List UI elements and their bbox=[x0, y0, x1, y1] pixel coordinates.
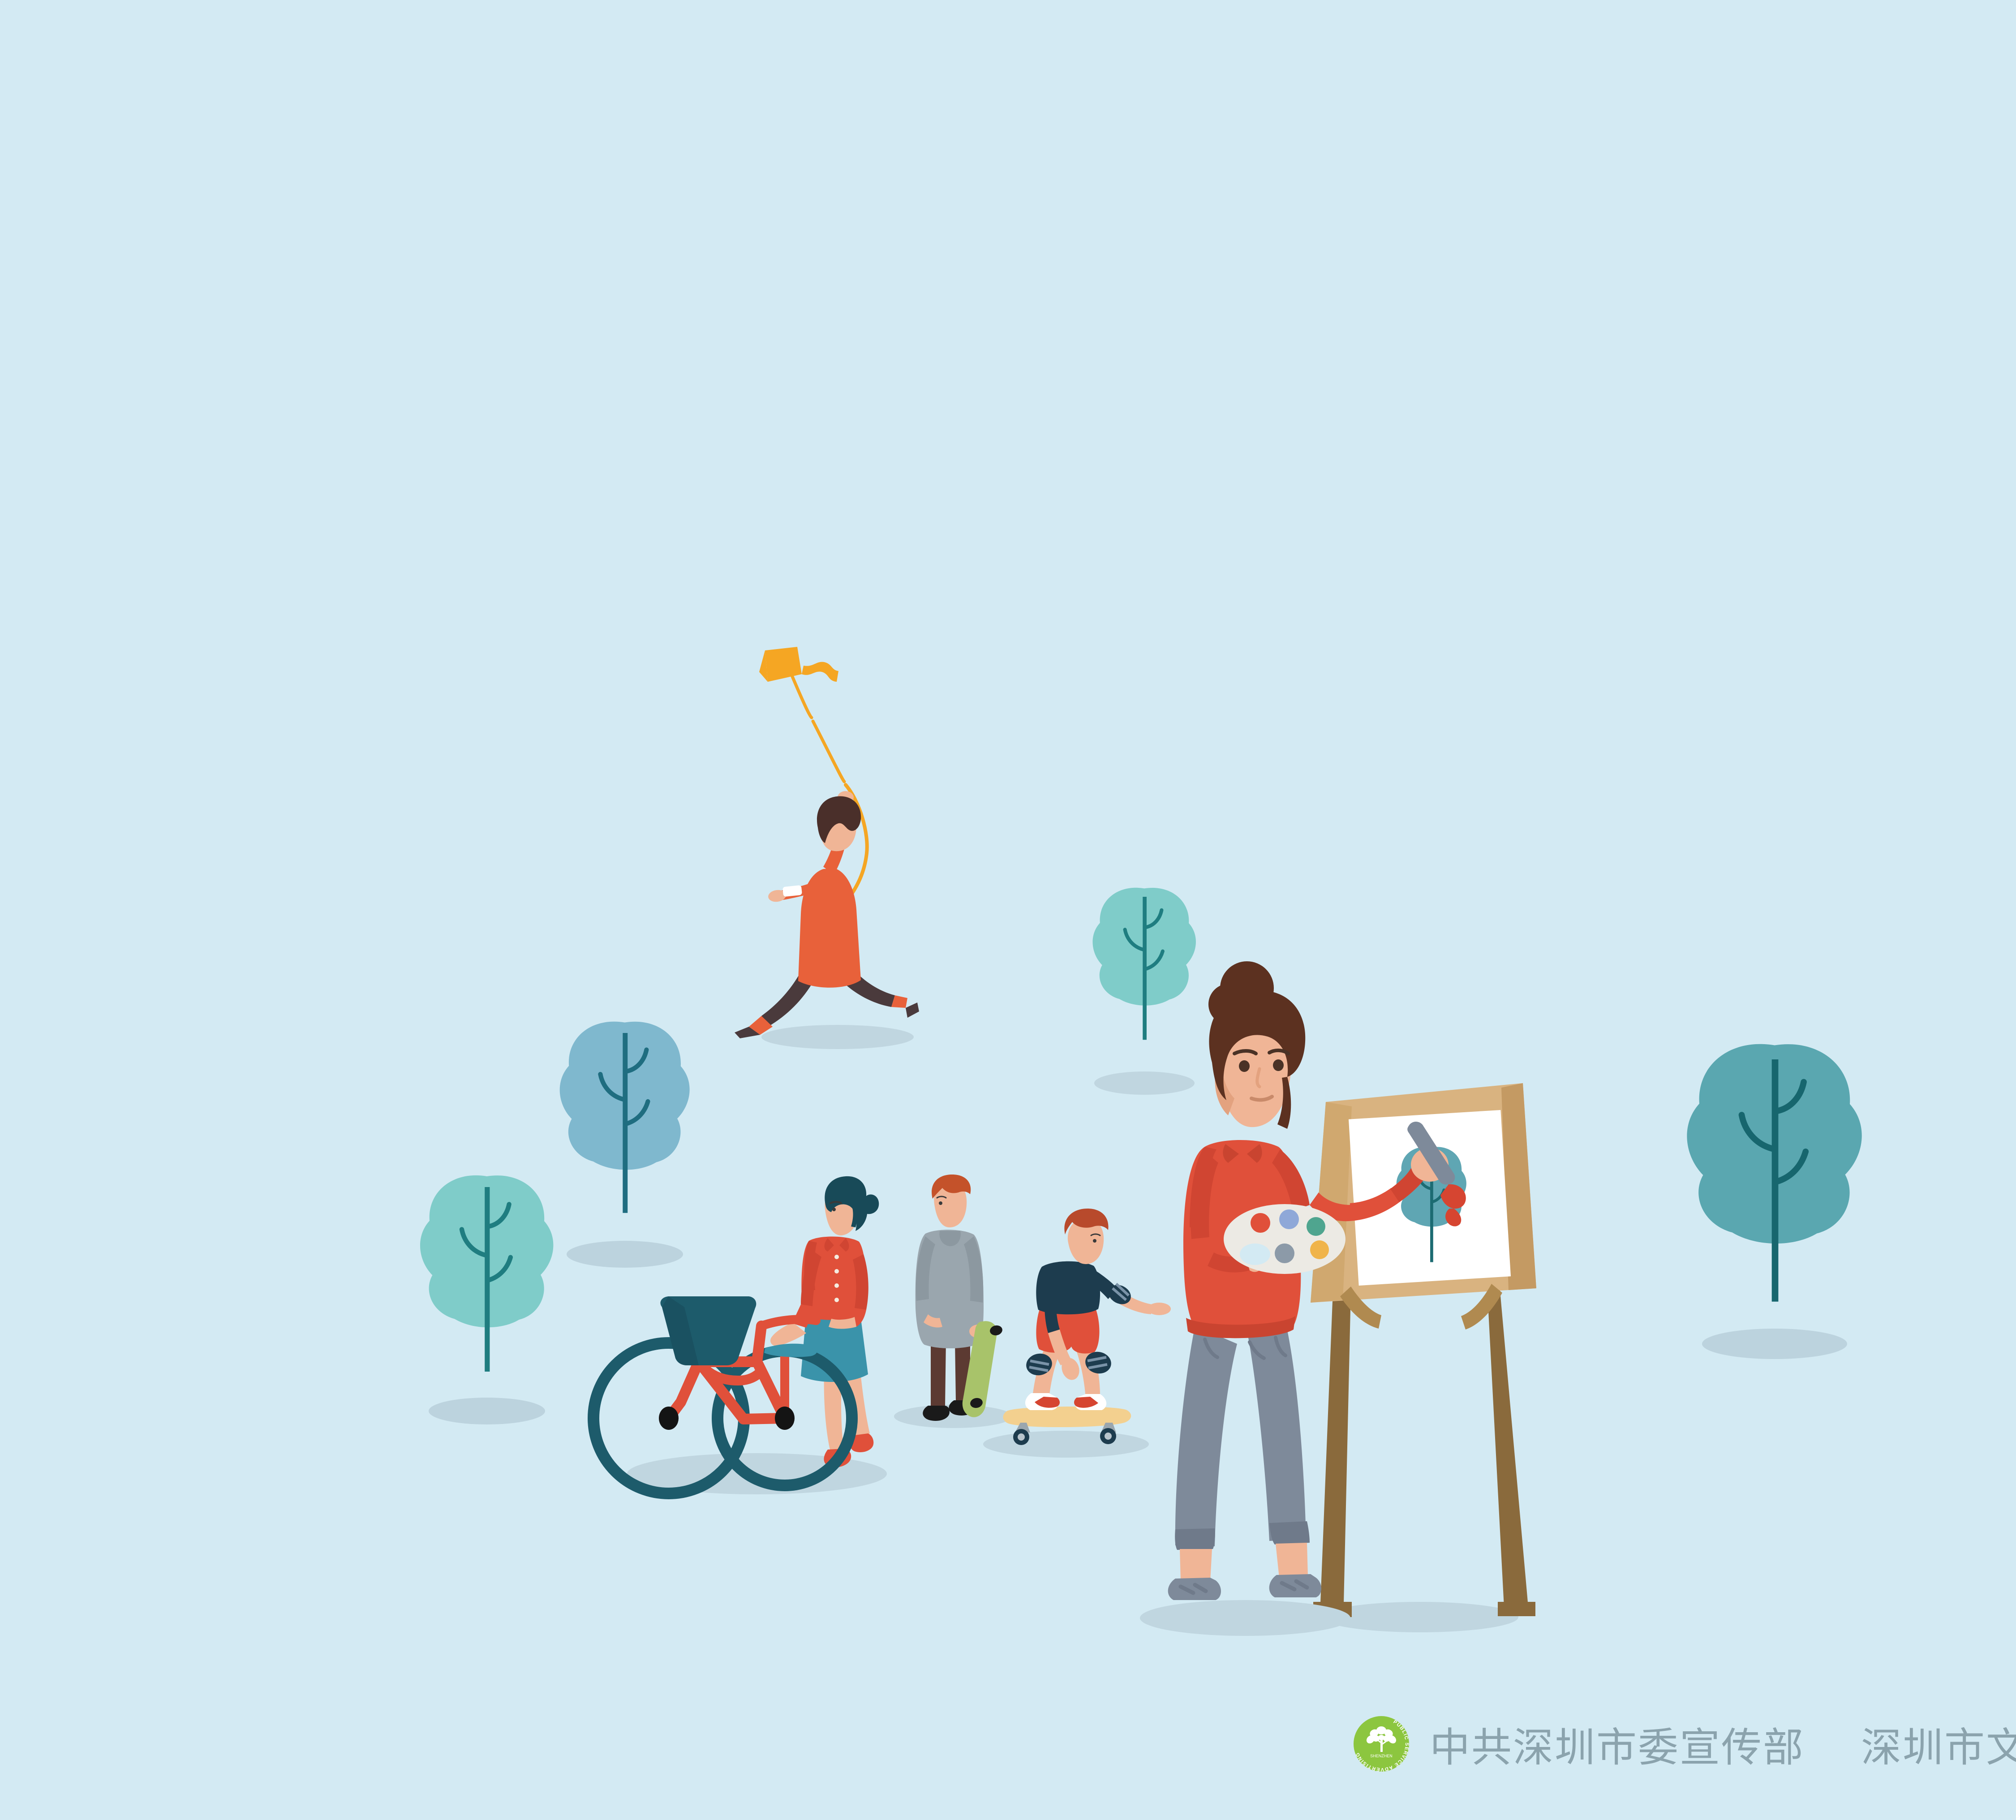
shenzhen-public-service-advertising-logo: SHENZHEN PUBLIC SERVICE ADVERTISING bbox=[1353, 1715, 1410, 1773]
paint-palette bbox=[1224, 1204, 1345, 1274]
footer-organizations: 中共深圳市委宣传部 深圳市文明办 bbox=[1430, 1715, 2016, 1773]
poster-root: 文明健康 有你有我 自我减压 培养兴趣 愉悦身心 释放情绪 放松自我 良好心态篇 bbox=[0, 0, 2016, 1820]
footer-org-2: 深圳市文明办 bbox=[1861, 1725, 2016, 1770]
illustration-scene bbox=[0, 0, 2016, 1820]
footer-org-1: 中共深圳市委宣传部 bbox=[1430, 1725, 1805, 1770]
footer: SHENZHEN PUBLIC SERVICE ADVERTISING 中共深圳… bbox=[1353, 1715, 2016, 1773]
logo-center-text: SHENZHEN bbox=[1370, 1754, 1393, 1758]
